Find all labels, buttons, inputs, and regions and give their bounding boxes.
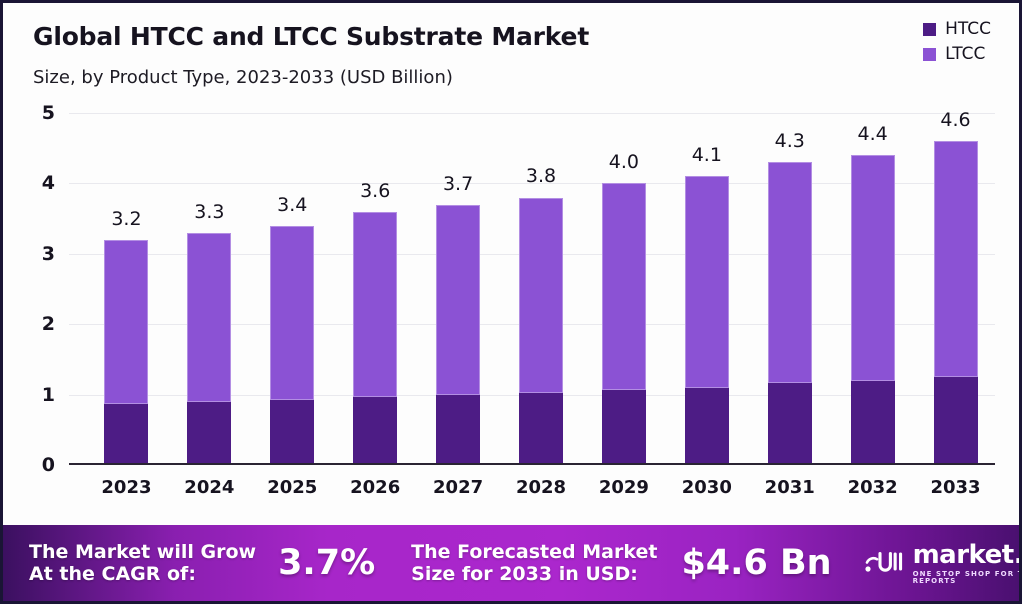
- bar-value-label: 4.6: [940, 109, 970, 131]
- bar-stack[interactable]: [685, 176, 729, 465]
- bar-segment-ltcc[interactable]: [187, 233, 231, 403]
- bar-value-label: 3.2: [111, 208, 141, 230]
- legend-label-htcc: HTCC: [945, 21, 991, 38]
- logo-mark-icon: [862, 546, 904, 580]
- bar-value-label: 4.4: [858, 123, 888, 145]
- x-axis-tick-label: 2030: [682, 477, 732, 498]
- cagr-value: 3.7%: [278, 543, 375, 583]
- legend-swatch-htcc: [923, 23, 936, 36]
- y-axis-tick-label: 4: [42, 172, 55, 194]
- x-axis-tick-label: 2032: [848, 477, 898, 498]
- legend-item-htcc[interactable]: HTCC: [923, 21, 991, 38]
- forecast-label-line1: The Forecasted Market: [411, 541, 657, 563]
- cagr-label-line1: The Market will Grow: [29, 541, 256, 563]
- bar-segment-htcc[interactable]: [934, 377, 978, 465]
- x-axis-tick-label: 2028: [516, 477, 566, 498]
- bar-value-label: 4.0: [609, 151, 639, 173]
- bar-stack[interactable]: [519, 197, 563, 465]
- bar-segment-htcc[interactable]: [436, 395, 480, 465]
- bar-stack[interactable]: [934, 141, 978, 465]
- bar-segment-ltcc[interactable]: [934, 141, 978, 377]
- bar-stack[interactable]: [602, 183, 646, 465]
- bar-segment-htcc[interactable]: [270, 400, 314, 465]
- bar-stack[interactable]: [768, 162, 812, 465]
- y-axis-tick-label: 3: [42, 243, 55, 265]
- x-axis-tick-label: 2033: [930, 477, 980, 498]
- bar-value-label: 3.6: [360, 180, 390, 202]
- chart-legend: HTCC LTCC: [923, 21, 991, 63]
- bar-stack[interactable]: [353, 212, 397, 465]
- bar-stack[interactable]: [270, 226, 314, 465]
- bar-value-label: 3.4: [277, 194, 307, 216]
- forecast-label: The Forecasted Market Size for 2033 in U…: [411, 541, 657, 586]
- bar-stack[interactable]: [851, 155, 895, 465]
- y-axis-tick-label: 1: [42, 384, 55, 406]
- cagr-label: The Market will Grow At the CAGR of:: [29, 541, 256, 586]
- x-axis-tick-label: 2027: [433, 477, 483, 498]
- y-axis-tick-label: 5: [42, 102, 55, 124]
- bar-stack[interactable]: [187, 233, 231, 465]
- x-axis-tick-label: 2025: [267, 477, 317, 498]
- x-axis-line: [69, 463, 995, 465]
- bar-value-label: 3.8: [526, 165, 556, 187]
- forecast-label-line2: Size for 2033 in USD:: [411, 563, 638, 585]
- x-axis-tick-label: 2024: [184, 477, 234, 498]
- chart-subtitle: Size, by Product Type, 2023-2033 (USD Bi…: [33, 67, 453, 88]
- bar-segment-ltcc[interactable]: [104, 240, 148, 405]
- bar-segment-htcc[interactable]: [602, 390, 646, 465]
- x-axis-tick-label: 2023: [101, 477, 151, 498]
- bar-segment-ltcc[interactable]: [436, 205, 480, 396]
- logo-name: market.us: [913, 542, 1019, 568]
- bar-segment-ltcc[interactable]: [685, 176, 729, 387]
- bar-segment-ltcc[interactable]: [768, 162, 812, 383]
- y-axis-tick-label: 2: [42, 313, 55, 335]
- y-axis-tick-label: 0: [42, 454, 55, 476]
- plot-area: 012345 3.23.33.43.63.73.84.04.14.34.44.6…: [69, 113, 995, 465]
- bar-stack[interactable]: [436, 205, 480, 465]
- bar-segment-htcc[interactable]: [685, 388, 729, 465]
- legend-swatch-ltcc: [923, 48, 936, 61]
- x-axis-tick-label: 2029: [599, 477, 649, 498]
- bar-segment-ltcc[interactable]: [851, 155, 895, 380]
- market-us-logo[interactable]: market.us ONE STOP SHOP FOR THE REPORTS: [862, 542, 1019, 585]
- page-title: Global HTCC and LTCC Substrate Market: [33, 22, 589, 51]
- chart-figure: Global HTCC and LTCC Substrate Market Si…: [0, 0, 1022, 604]
- bar-segment-htcc[interactable]: [104, 404, 148, 465]
- gridline: [69, 113, 995, 114]
- bar-value-label: 4.1: [692, 144, 722, 166]
- bar-value-label: 3.7: [443, 173, 473, 195]
- bar-value-label: 4.3: [775, 130, 805, 152]
- bar-value-label: 3.3: [194, 201, 224, 223]
- x-axis-tick-label: 2026: [350, 477, 400, 498]
- bar-segment-htcc[interactable]: [851, 381, 895, 465]
- x-axis-tick-label: 2031: [765, 477, 815, 498]
- cagr-label-line2: At the CAGR of:: [29, 563, 196, 585]
- bar-segment-ltcc[interactable]: [353, 212, 397, 398]
- bar-segment-htcc[interactable]: [768, 383, 812, 465]
- legend-label-ltcc: LTCC: [945, 46, 985, 63]
- bar-segment-htcc[interactable]: [187, 402, 231, 465]
- bar-segment-htcc[interactable]: [519, 393, 563, 465]
- bar-segment-ltcc[interactable]: [602, 183, 646, 389]
- bar-stack[interactable]: [104, 240, 148, 465]
- summary-banner: The Market will Grow At the CAGR of: 3.7…: [3, 525, 1019, 601]
- bar-segment-htcc[interactable]: [353, 397, 397, 465]
- bar-segment-ltcc[interactable]: [519, 198, 563, 394]
- logo-wordmark: market.us ONE STOP SHOP FOR THE REPORTS: [913, 542, 1019, 585]
- legend-item-ltcc[interactable]: LTCC: [923, 46, 991, 63]
- logo-tagline: ONE STOP SHOP FOR THE REPORTS: [913, 571, 1019, 585]
- forecast-value: $4.6 Bn: [681, 543, 831, 583]
- bar-segment-ltcc[interactable]: [270, 226, 314, 401]
